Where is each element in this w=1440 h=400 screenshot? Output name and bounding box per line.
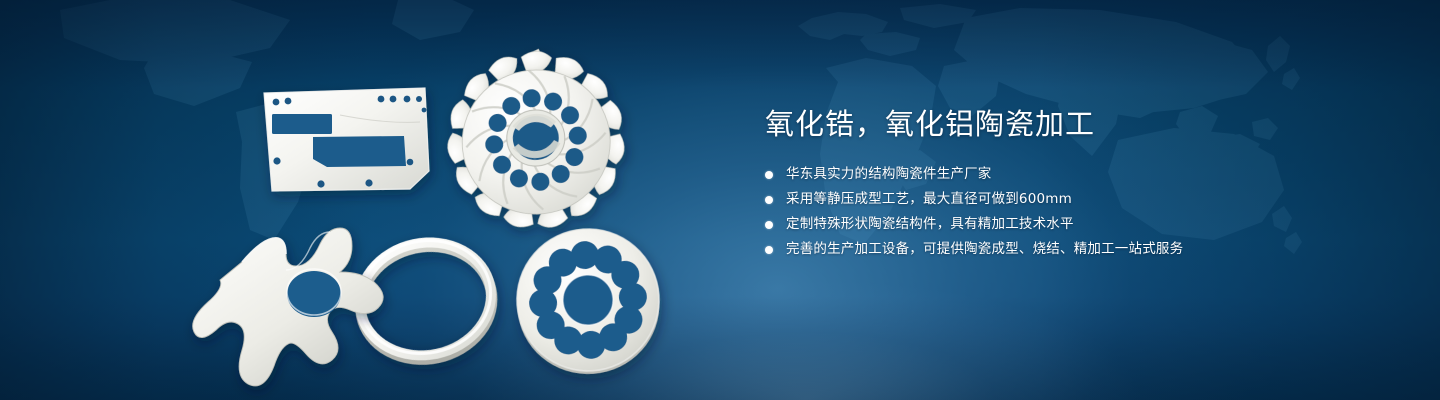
list-item: 采用等静压成型工艺，最大直径可做到600mm [765, 191, 1405, 208]
page-title: 氧化锆，氧化铝陶瓷加工 [765, 104, 1405, 144]
promo-banner: 氧化锆，氧化铝陶瓷加工 华东具实力的结构陶瓷件生产厂家 采用等静压成型工艺，最大… [0, 0, 1440, 400]
banner-text-block: 氧化锆，氧化铝陶瓷加工 华东具实力的结构陶瓷件生产厂家 采用等静压成型工艺，最大… [765, 104, 1405, 266]
ceramic-products-image [0, 0, 720, 400]
bullet-dot-icon [765, 196, 773, 204]
ceramic-impeller-shape [437, 41, 636, 241]
ceramic-cross-blade-shape [193, 228, 384, 386]
ceramic-plate-shape [264, 88, 429, 191]
bullet-dot-icon [765, 171, 773, 179]
list-item-label: 定制特殊形状陶瓷结构件，具有精加工技术水平 [786, 216, 1074, 233]
list-item: 完善的生产加工设备，可提供陶瓷成型、烧结、精加工一站式服务 [765, 241, 1405, 258]
ceramic-perforated-disc-shape [512, 224, 664, 379]
bullet-dot-icon [765, 246, 773, 254]
feature-list: 华东具实力的结构陶瓷件生产厂家 采用等静压成型工艺，最大直径可做到600mm 定… [765, 166, 1405, 258]
list-item-label: 采用等静压成型工艺，最大直径可做到600mm [786, 191, 1072, 208]
list-item: 定制特殊形状陶瓷结构件，具有精加工技术水平 [765, 216, 1405, 233]
list-item: 华东具实力的结构陶瓷件生产厂家 [765, 166, 1405, 183]
list-item-label: 华东具实力的结构陶瓷件生产厂家 [786, 166, 992, 183]
list-item-label: 完善的生产加工设备，可提供陶瓷成型、烧结、精加工一站式服务 [786, 241, 1183, 258]
bullet-dot-icon [765, 221, 773, 229]
